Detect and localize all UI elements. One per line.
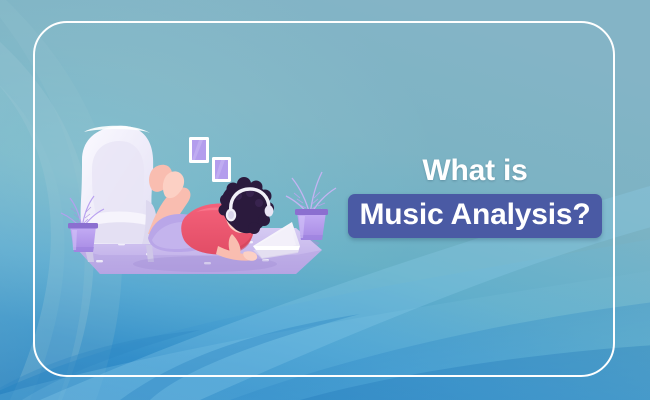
music-analysis-banner: What is Music Analysis? — [0, 0, 650, 400]
headline-badge-music-analysis: Music Analysis? — [348, 194, 603, 238]
wall-frame-lower — [212, 157, 231, 182]
headline-block: What is Music Analysis? — [340, 155, 610, 238]
headline-line-1: What is — [340, 155, 610, 187]
wall-frame-upper — [189, 137, 209, 163]
